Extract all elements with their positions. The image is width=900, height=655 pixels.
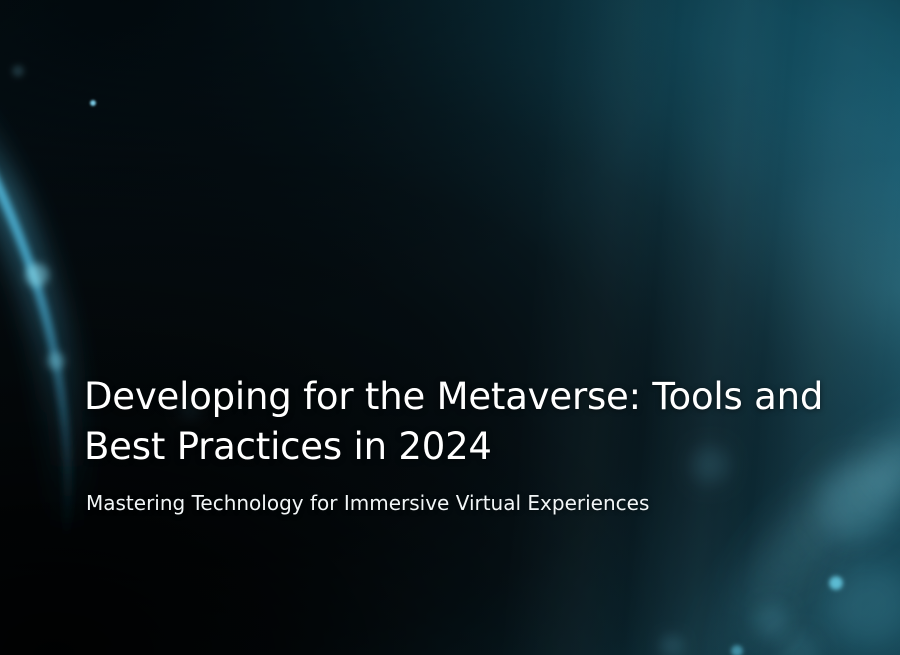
bokeh-bottom-right-low: [780, 633, 820, 655]
slide-text-block: Developing for the Metaverse: Tools and …: [84, 372, 884, 517]
bokeh-bottom-small-a: [660, 634, 684, 655]
bokeh-arc-upper: [25, 263, 49, 287]
presentation-slide: Developing for the Metaverse: Tools and …: [0, 0, 900, 655]
bokeh-topleft-bright: [90, 100, 96, 106]
bokeh-topleft-dim: [12, 65, 24, 77]
slide-title: Developing for the Metaverse: Tools and …: [84, 372, 884, 472]
bokeh-bottom-large: [825, 561, 900, 649]
bokeh-bottom-dot: [829, 576, 843, 590]
bokeh-arc-lower: [47, 352, 65, 370]
slide-subtitle: Mastering Technology for Immersive Virtu…: [86, 489, 884, 517]
